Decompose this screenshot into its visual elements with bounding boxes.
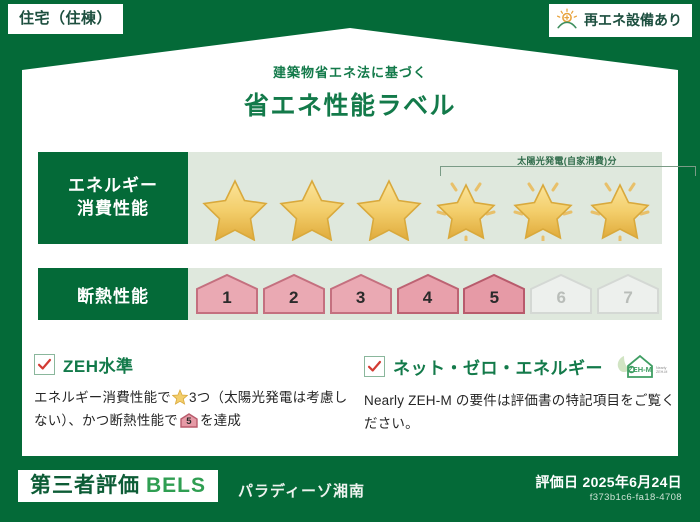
criteria-description: エネルギー消費性能で3つ（太陽光発電は考慮しない）、かつ断熱性能で5を達成 [34,386,352,432]
insulation-level-scale: 1 2 3 4 5 [188,268,662,320]
evaluation-date: 評価日 2025年6月24日 [535,472,682,492]
star-filled [199,175,271,241]
insulation-level-badge-inactive: 6 [528,272,594,316]
building-type-tag: 住宅（住棟） [8,4,123,34]
insulation-level-number: 1 [194,272,260,316]
star-solar [507,175,579,241]
insulation-level-badge-achieved: 5 [461,272,527,316]
criteria-heading: ZEH水準 [34,352,352,377]
star-filled [353,175,425,241]
star-filled [276,175,348,241]
criteria-text-part3: を達成 [200,413,241,428]
energy-caption-line2: 消費性能 [77,198,149,221]
criteria-title: ネット・ゼロ・エネルギー [393,354,603,379]
bels-badge-prefix: 第三者評価 [30,474,140,497]
building-type-tag-label: 住宅（住棟） [19,10,112,27]
insulation-level-badge: 3 [328,272,394,316]
inline-badge-number: 5 [180,413,198,428]
evaluation-date-label: 評価日 [535,474,578,490]
insulation-level-badge: 2 [261,272,327,316]
energy-performance-label: 住宅（住棟） 再エネ設備あり 建築物省エネ法に基づく 省エネ性能ラベル エネルギ… [0,0,700,522]
criteria-text-part1: エネルギー消費性能で [34,390,171,405]
title-subtitle: 建築物省エネ法に基づく [0,62,700,81]
bels-certification-badge: 第三者評価BELS [18,470,218,502]
svg-text:ZEH-M: ZEH-M [628,365,652,374]
insulation-level-number: 3 [328,272,394,316]
insulation-level-number: 4 [395,272,461,316]
insulation-level-number: 2 [261,272,327,316]
bels-badge-brand: BELS [146,474,206,497]
label-footer: 第三者評価BELS パラディーゾ湘南 評価日 2025年6月24日 f373b1… [0,460,700,522]
energy-caption-line1: エネルギー [68,175,158,198]
renewable-equipment-tag: 再エネ設備あり [549,4,692,37]
criteria-heading: ネット・ゼロ・エネルギー ZEH-M Nearly ZEH-M [364,352,676,380]
check-icon [367,359,382,374]
energy-star-rating [196,176,658,240]
energy-row-body: 太陽光発電(自家消費)分 [188,152,662,244]
svg-text:ZEH-M: ZEH-M [656,370,667,374]
insulation-caption-label: 断熱性能 [77,282,149,307]
insulation-row-caption: 断熱性能 [38,268,188,320]
star-solar [584,175,656,241]
inline-insulation-badge: 5 [180,413,198,428]
insulation-level-number: 5 [461,272,527,316]
criteria-description: Nearly ZEH-M の要件は評価書の特記項目をご覧ください。 [364,389,676,435]
evaluation-date-value: 2025年6月24日 [582,474,682,490]
criteria-net-zero-energy: ネット・ゼロ・エネルギー ZEH-M Nearly ZEH-M Nearly Z… [364,352,676,435]
insulation-performance-row: 断熱性能 1 2 3 4 [38,268,662,320]
insulation-level-number: 6 [528,272,594,316]
energy-row-caption: エネルギー 消費性能 [38,152,188,244]
energy-performance-row: エネルギー 消費性能 太陽光発電(自家消費)分 [38,152,662,244]
sun-icon [555,8,579,32]
label-title-block: 建築物省エネ法に基づく 省エネ性能ラベル [0,62,700,122]
star-icon [172,389,188,405]
checkbox-checked[interactable] [34,354,55,375]
star-solar [430,175,502,241]
check-icon [37,357,52,372]
insulation-row-body: 1 2 3 4 5 [188,268,662,320]
criteria-title: ZEH水準 [63,352,134,377]
insulation-level-badge-inactive: 7 [595,272,661,316]
zeh-m-house-icon: ZEH-M Nearly ZEH-M [615,352,671,380]
evaluation-id: f373b1c6-fa18-4708 [590,492,682,503]
renewable-tag-label: 再エネ設備あり [584,13,682,27]
checkbox-checked[interactable] [364,356,385,377]
insulation-level-badge: 4 [395,272,461,316]
insulation-level-number: 7 [595,272,661,316]
criteria-zeh-standard: ZEH水準 エネルギー消費性能で3つ（太陽光発電は考慮しない）、かつ断熱性能で5… [34,352,352,432]
building-name: パラディーゾ湘南 [238,480,365,501]
insulation-level-badge: 1 [194,272,260,316]
page-title: 省エネ性能ラベル [0,86,700,122]
